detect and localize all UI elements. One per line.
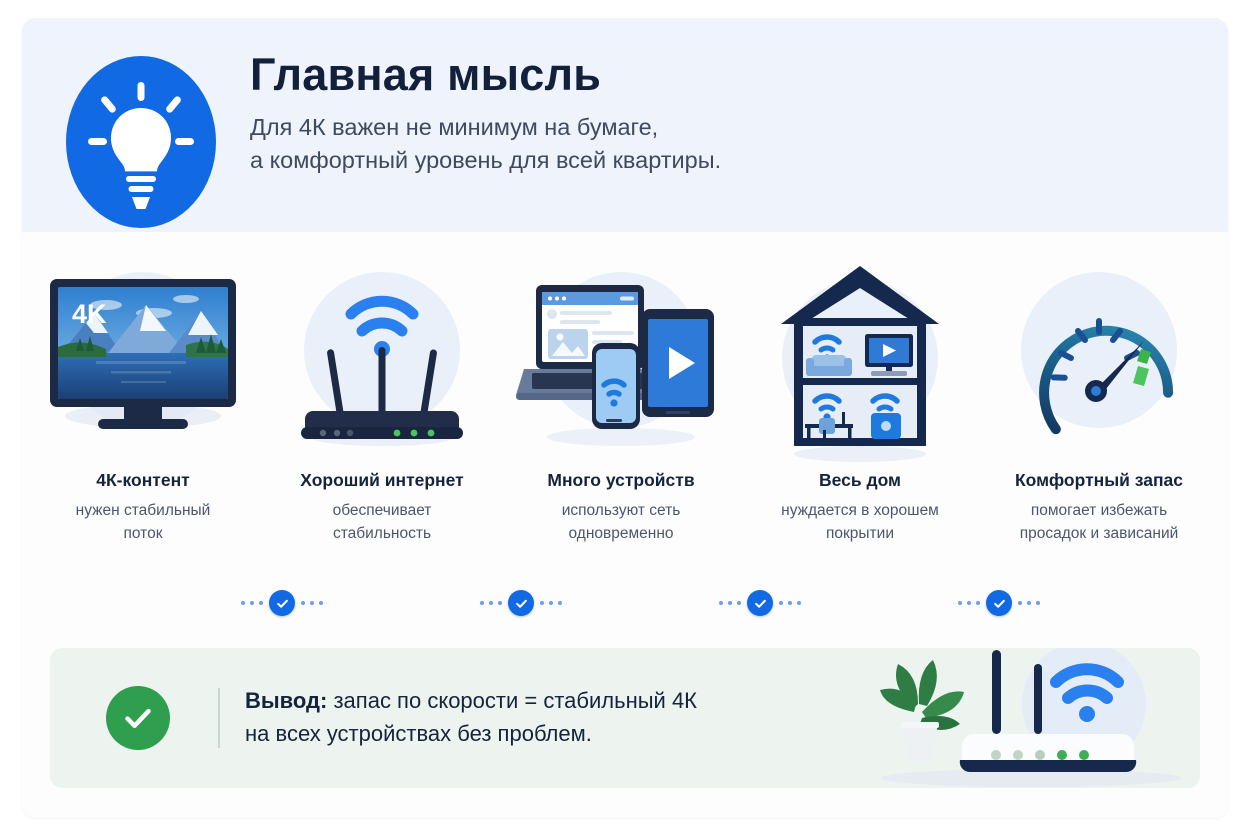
- step-desc-line-2: одновременно: [515, 523, 727, 546]
- conclusion-line-1-rest: запас по скорости = стабильный 4К: [327, 688, 697, 713]
- steps-row: 4K 4К-контент нужен стабильный поток: [22, 258, 1228, 618]
- check-circle-icon: [986, 590, 1012, 616]
- tv-4k-icon: 4K: [36, 261, 250, 461]
- step-art: 4K: [36, 258, 250, 464]
- step-desc-line-1: нуждается в хорошем: [754, 500, 966, 523]
- check-circle-icon: [508, 590, 534, 616]
- step-desc-line-2: покрытии: [754, 523, 966, 546]
- conclusion-line-2: на всех устройствах без проблем.: [245, 717, 845, 750]
- conclusion-bar: Вывод: запас по скорости = стабильный 4К…: [50, 648, 1200, 788]
- step-art: [992, 258, 1206, 464]
- conclusion-illustration: [856, 648, 1186, 788]
- dotted-line-right: [779, 601, 801, 605]
- step-desc-line-2: поток: [37, 523, 249, 546]
- check-circle-icon: [106, 686, 170, 750]
- dotted-line-left: [241, 601, 263, 605]
- step-desc: используют сеть одновременно: [515, 500, 727, 545]
- step-desc: помогает избежать просадок и зависаний: [993, 500, 1205, 545]
- conclusion-text: Вывод: запас по скорости = стабильный 4К…: [245, 684, 845, 751]
- dotted-line-right: [540, 601, 562, 605]
- step-desc-line-2: просадок и зависаний: [993, 523, 1205, 546]
- step-desc-line-2: стабильность: [276, 523, 488, 546]
- step-whole-house: Весь дом нуждается в хорошем покрытии: [753, 258, 967, 618]
- header-banner: Главная мысль Для 4К важен не минимум на…: [22, 18, 1228, 232]
- speed-gauge-icon: [992, 261, 1206, 461]
- tv-screen-badge-4k: 4K: [72, 299, 107, 329]
- step-desc-line-1: помогает избежать: [993, 500, 1205, 523]
- connector-1: [230, 590, 334, 616]
- potted-plant-icon: [880, 660, 964, 762]
- dotted-line-left: [958, 601, 980, 605]
- connector-2: [469, 590, 573, 616]
- step-title: Много устройств: [547, 470, 694, 491]
- header-subtitle: Для 4К важен не минимум на бумаге, а ком…: [250, 111, 1150, 178]
- step-title: Комфортный запас: [1015, 470, 1183, 491]
- conclusion-line-1: Вывод: запас по скорости = стабильный 4К: [245, 684, 845, 717]
- dotted-line-right: [1018, 601, 1040, 605]
- step-art: [514, 258, 728, 464]
- step-title: Хороший интернет: [300, 470, 463, 491]
- check-circle-icon: [747, 590, 773, 616]
- header-subtitle-line-2: а комфортный уровень для всей квартиры.: [250, 144, 1150, 177]
- step-title: 4К-контент: [96, 470, 189, 491]
- check-circle-icon: [269, 590, 295, 616]
- step-title: Весь дом: [819, 470, 901, 491]
- step-desc: нужен стабильный поток: [37, 500, 249, 545]
- lightbulb-icon: [66, 56, 216, 228]
- connector-4: [947, 590, 1051, 616]
- step-desc-line-1: обеспечивает: [276, 500, 488, 523]
- multi-devices-icon: [514, 261, 728, 461]
- step-desc: нуждается в хорошем покрытии: [754, 500, 966, 545]
- dotted-line-right: [301, 601, 323, 605]
- dotted-line-left: [719, 601, 741, 605]
- page-title: Главная мысль: [250, 48, 1150, 101]
- conclusion-label: Вывод:: [245, 688, 327, 713]
- step-desc: обеспечивает стабильность: [276, 500, 488, 545]
- step-desc-line-1: используют сеть: [515, 500, 727, 523]
- connector-3: [708, 590, 812, 616]
- divider: [218, 688, 220, 748]
- infographic-canvas: Главная мысль Для 4К важен не минимум на…: [0, 0, 1250, 833]
- wifi-router-icon: [275, 261, 489, 461]
- header-subtitle-line-1: Для 4К важен не минимум на бумаге,: [250, 111, 1150, 144]
- house-coverage-icon: [753, 258, 967, 464]
- step-desc-line-1: нужен стабильный: [37, 500, 249, 523]
- main-card: Главная мысль Для 4К важен не минимум на…: [22, 18, 1228, 818]
- step-comfortable-headroom: Комфортный запас помогает избежать проса…: [992, 258, 1206, 618]
- step-good-internet: Хороший интернет обеспечивает стабильнос…: [275, 258, 489, 618]
- step-art: [275, 258, 489, 464]
- step-many-devices: Много устройств используют сеть одноврем…: [514, 258, 728, 618]
- step-4k-content: 4K 4К-контент нужен стабильный поток: [36, 258, 250, 618]
- step-art: [753, 258, 967, 464]
- dotted-line-left: [480, 601, 502, 605]
- header-text-block: Главная мысль Для 4К важен не минимум на…: [250, 48, 1150, 178]
